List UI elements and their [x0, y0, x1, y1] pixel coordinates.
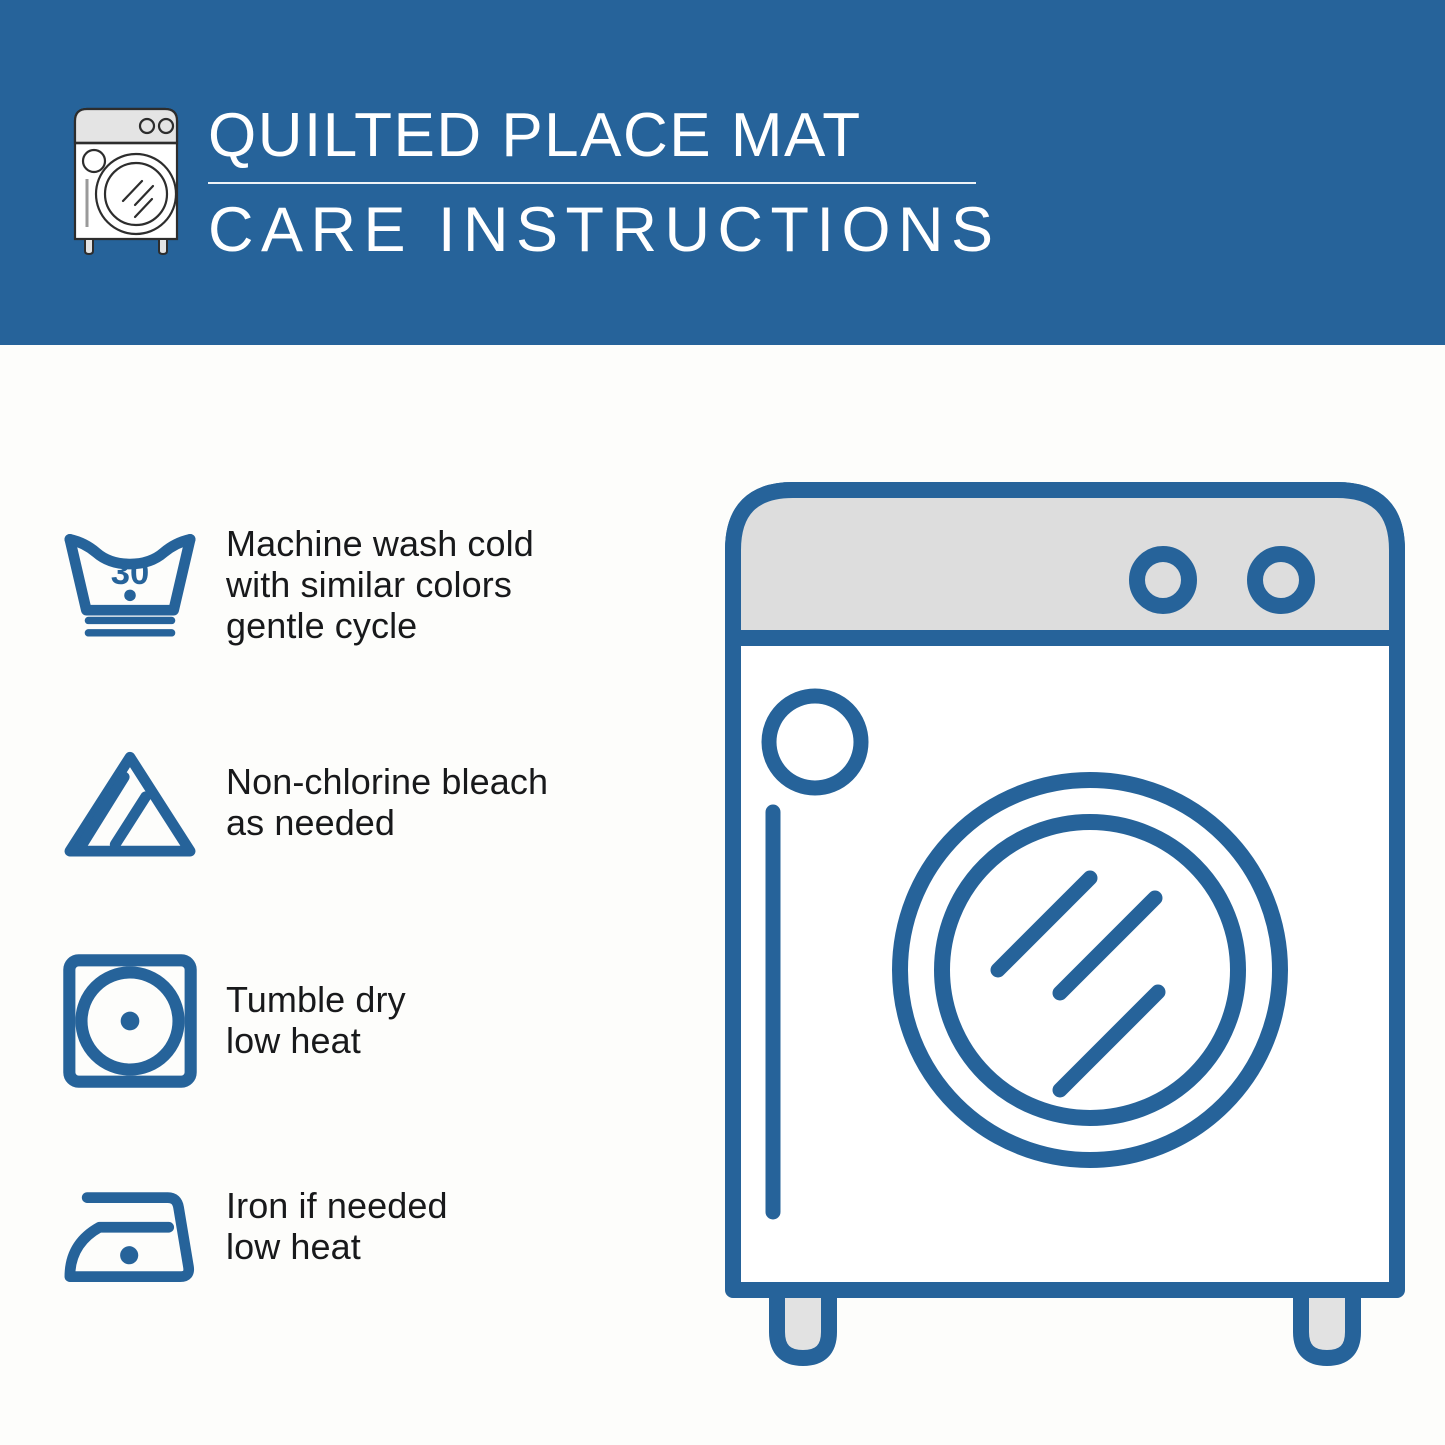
care-instructions-page: QUILTED PLACE MAT CARE INSTRUCTIONS 30	[0, 0, 1445, 1445]
wash-tub-30-gentle-icon: 30	[0, 495, 200, 670]
care-text-line: Non-chlorine bleach	[226, 761, 548, 802]
care-text-line: gentle cycle	[226, 605, 534, 646]
iron-low-heat-icon	[0, 1145, 200, 1320]
tumble-dry-low-heat-icon	[0, 933, 200, 1108]
care-text-line: with similar colors	[226, 564, 534, 605]
page-subtitle: CARE INSTRUCTIONS	[208, 192, 998, 268]
care-text-line: low heat	[226, 1020, 406, 1061]
care-text-machine-wash: Machine wash cold with similar colors ge…	[200, 495, 534, 646]
care-text-tumble-dry: Tumble dry low heat	[200, 933, 406, 1061]
care-text-line: as needed	[226, 802, 548, 843]
care-row-machine-wash: 30 Machine wash cold with similar colors…	[0, 495, 700, 670]
title-divider	[208, 182, 976, 184]
care-text-line: Machine wash cold	[226, 523, 534, 564]
care-text-line: Tumble dry	[226, 979, 406, 1020]
header-title-block: QUILTED PLACE MAT CARE INSTRUCTIONS	[208, 100, 998, 268]
care-text-iron: Iron if needed low heat	[200, 1145, 448, 1267]
non-chlorine-bleach-triangle-icon	[0, 717, 200, 892]
care-row-tumble-dry: Tumble dry low heat	[0, 933, 700, 1108]
care-text-line: low heat	[226, 1226, 448, 1267]
wash-temperature-label: 30	[111, 553, 149, 591]
care-text-line: Iron if needed	[226, 1185, 448, 1226]
header-band: QUILTED PLACE MAT CARE INSTRUCTIONS	[0, 0, 1445, 345]
care-row-bleach: Non-chlorine bleach as needed	[0, 717, 700, 892]
care-instruction-list: 30 Machine wash cold with similar colors…	[0, 345, 700, 1445]
washing-machine-icon	[65, 103, 187, 255]
care-text-bleach: Non-chlorine bleach as needed	[200, 717, 548, 843]
front-load-washing-machine-illustration	[715, 470, 1415, 1370]
header-content: QUILTED PLACE MAT CARE INSTRUCTIONS	[0, 0, 1445, 345]
page-title: QUILTED PLACE MAT	[208, 100, 998, 172]
care-row-iron: Iron if needed low heat	[0, 1145, 700, 1320]
